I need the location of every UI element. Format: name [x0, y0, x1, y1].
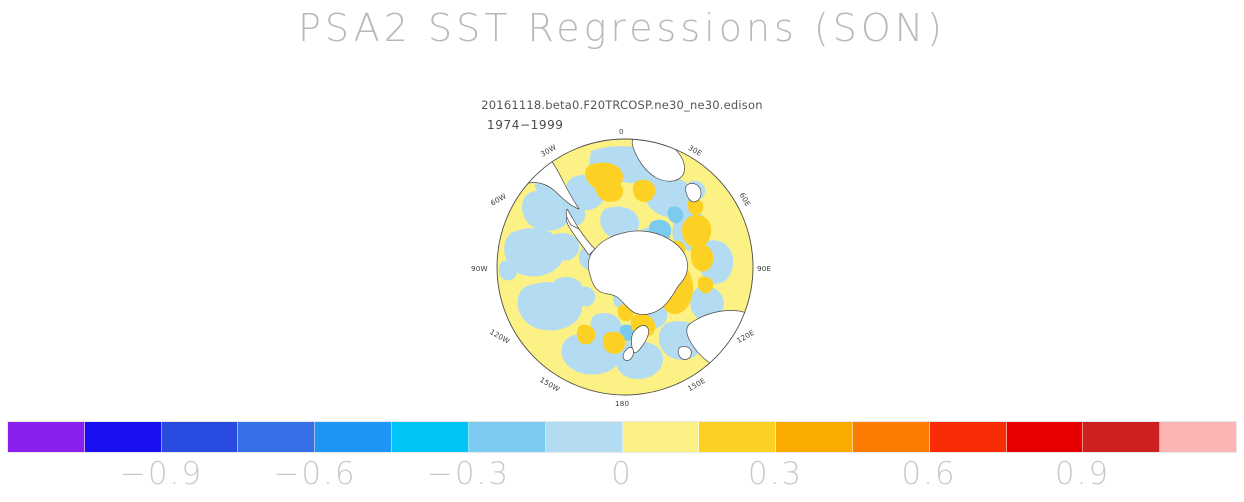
- lon-label-0: 0: [619, 127, 624, 136]
- colorbar-cell-14: [1083, 422, 1160, 452]
- colorbar-cell-2: [162, 422, 239, 452]
- colorbar-tick--0.6: −0.6: [273, 456, 356, 492]
- colorbar-panel: −0.9−0.6−0.300.30.60.9: [0, 418, 1244, 502]
- colorbar-cell-13: [1007, 422, 1084, 452]
- colorbar-cell-12: [930, 422, 1007, 452]
- colorbar-cell-8: [623, 422, 700, 452]
- lon-label-90e: 90E: [757, 264, 771, 273]
- colorbar-cell-5: [392, 422, 469, 452]
- colorbar-tick-0: 0: [611, 456, 633, 492]
- lon-label-180: 180: [615, 399, 629, 408]
- colorbar-cell-9: [699, 422, 776, 452]
- colorbar-tick-0.9: 0.9: [1055, 456, 1110, 492]
- colorbar-cell-4: [315, 422, 392, 452]
- page-title: PSA2 SST Regressions (SON): [0, 6, 1244, 50]
- sst-field: [495, 137, 755, 397]
- colorbar-cell-1: [85, 422, 162, 452]
- colorbar-cell-7: [546, 422, 623, 452]
- polar-map-svg: [495, 137, 755, 397]
- colorbar-cell-15: [1160, 422, 1236, 452]
- period-label: 1974−1999: [487, 118, 564, 132]
- colorbar[interactable]: [8, 422, 1236, 452]
- colorbar-cell-6: [469, 422, 546, 452]
- colorbar-tick-0.6: 0.6: [901, 456, 956, 492]
- colorbar-tick-0.3: 0.3: [748, 456, 803, 492]
- case-name-label: 20161118.beta0.F20TRCOSP.ne30_ne30.ediso…: [0, 98, 1244, 112]
- colorbar-cell-11: [853, 422, 930, 452]
- colorbar-cell-3: [238, 422, 315, 452]
- plot-panel: 20161118.beta0.F20TRCOSP.ne30_ne30.ediso…: [0, 88, 1244, 408]
- colorbar-tick-labels: −0.9−0.6−0.300.30.60.9: [0, 456, 1244, 500]
- polar-map: 0 30E 60E 90E 120E 150E 180 150W 120W 90…: [495, 137, 755, 397]
- colorbar-cell-0: [8, 422, 85, 452]
- colorbar-tick--0.3: −0.3: [427, 456, 510, 492]
- colorbar-tick--0.9: −0.9: [120, 456, 203, 492]
- lon-label-90w: 90W: [471, 264, 488, 273]
- colorbar-cell-10: [776, 422, 853, 452]
